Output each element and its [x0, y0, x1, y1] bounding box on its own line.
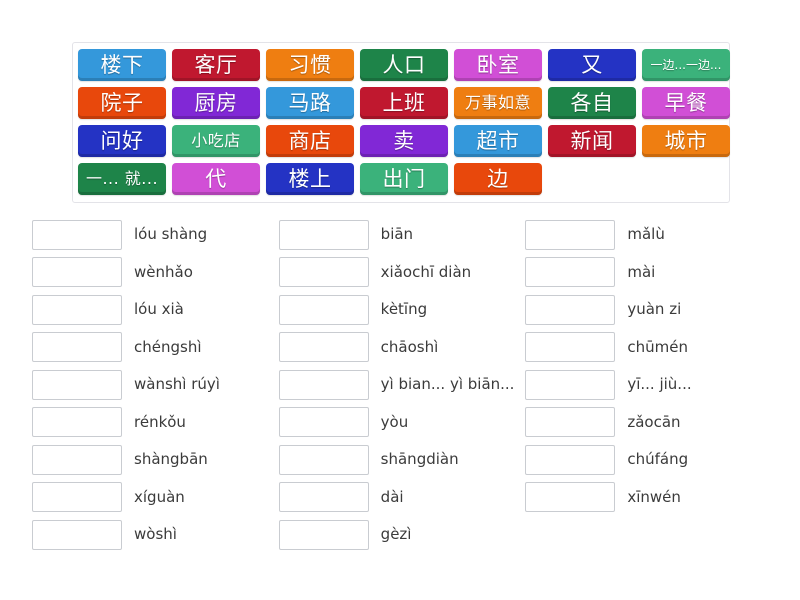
answer-drop-box[interactable] [279, 482, 369, 512]
pinyin-label: lóu shàng [134, 227, 207, 242]
answer-row: yòu [279, 404, 526, 442]
answer-drop-box[interactable] [525, 332, 615, 362]
answer-drop-box[interactable] [279, 220, 369, 250]
pinyin-label: gèzì [381, 527, 412, 542]
answer-row: yuàn zi [525, 291, 772, 329]
answer-drop-box[interactable] [32, 445, 122, 475]
pinyin-label: wànshì rúyì [134, 377, 220, 392]
answer-drop-box[interactable] [525, 295, 615, 325]
answer-row: wènhǎo [32, 254, 279, 292]
answer-row: lóu shàng [32, 216, 279, 254]
word-tile[interactable]: 边 [454, 163, 542, 195]
word-tile[interactable]: 一边...一边... [642, 49, 730, 81]
answer-drop-box[interactable] [525, 257, 615, 287]
word-tile[interactable]: 早餐 [642, 87, 730, 119]
pinyin-label: chūmén [627, 340, 688, 355]
pinyin-label: rénkǒu [134, 415, 186, 430]
answer-drop-box[interactable] [32, 520, 122, 550]
answer-column: biānxiǎochī diànkètīngchāoshìyì bian... … [279, 216, 526, 554]
pinyin-label: wòshì [134, 527, 177, 542]
word-tile[interactable]: 小吃店 [172, 125, 260, 157]
answer-drop-box[interactable] [279, 445, 369, 475]
pinyin-label: yòu [381, 415, 409, 430]
answer-row: gèzì [279, 516, 526, 554]
tile-row: 一... 就...代楼上出门边 [78, 163, 724, 195]
word-tile[interactable]: 又 [548, 49, 636, 81]
word-tile[interactable]: 新闻 [548, 125, 636, 157]
answer-row: chúfáng [525, 441, 772, 479]
answer-grid: lóu shàngwènhǎolóu xiàchéngshìwànshì rúy… [32, 216, 772, 554]
word-tile[interactable]: 商店 [266, 125, 354, 157]
pinyin-label: shàngbān [134, 452, 208, 467]
answer-drop-box[interactable] [279, 295, 369, 325]
pinyin-label: yuàn zi [627, 302, 681, 317]
word-tile-panel: 楼下客厅习惯人口卧室又一边...一边...院子厨房马路上班万事如意各自早餐问好小… [72, 42, 730, 203]
word-tile[interactable]: 楼下 [78, 49, 166, 81]
answer-row: yī... jiù... [525, 366, 772, 404]
answer-column: mǎlùmàiyuàn zichūményī... jiù...zǎocānch… [525, 216, 772, 554]
answer-drop-box[interactable] [32, 332, 122, 362]
answer-row: shāngdiàn [279, 441, 526, 479]
answer-drop-box[interactable] [32, 295, 122, 325]
word-tile[interactable]: 卧室 [454, 49, 542, 81]
pinyin-label: xīnwén [627, 490, 681, 505]
answer-row: dài [279, 479, 526, 517]
word-tile[interactable]: 代 [172, 163, 260, 195]
word-tile[interactable]: 出门 [360, 163, 448, 195]
pinyin-label: yì bian... yì biān... [381, 377, 515, 392]
pinyin-label: biān [381, 227, 413, 242]
pinyin-label: yī... jiù... [627, 377, 691, 392]
pinyin-label: mài [627, 265, 655, 280]
answer-row: kètīng [279, 291, 526, 329]
answer-row: lóu xià [32, 291, 279, 329]
answer-drop-box[interactable] [32, 407, 122, 437]
word-tile[interactable]: 万事如意 [454, 87, 542, 119]
pinyin-label: chāoshì [381, 340, 439, 355]
answer-drop-box[interactable] [525, 407, 615, 437]
pinyin-label: kètīng [381, 302, 427, 317]
answer-row: wòshì [32, 516, 279, 554]
answer-row: chūmén [525, 329, 772, 367]
answer-drop-box[interactable] [525, 220, 615, 250]
word-tile[interactable]: 客厅 [172, 49, 260, 81]
answer-drop-box[interactable] [279, 520, 369, 550]
answer-drop-box[interactable] [279, 407, 369, 437]
pinyin-label: chéngshì [134, 340, 202, 355]
word-tile[interactable]: 人口 [360, 49, 448, 81]
word-tile[interactable]: 习惯 [266, 49, 354, 81]
word-tile[interactable]: 厨房 [172, 87, 260, 119]
answer-row: shàngbān [32, 441, 279, 479]
answer-row: chāoshì [279, 329, 526, 367]
pinyin-label: lóu xià [134, 302, 184, 317]
word-tile[interactable]: 院子 [78, 87, 166, 119]
word-tile[interactable]: 城市 [642, 125, 730, 157]
word-tile[interactable]: 一... 就... [78, 163, 166, 195]
answer-row: biān [279, 216, 526, 254]
answer-row: mài [525, 254, 772, 292]
word-tile[interactable]: 超市 [454, 125, 542, 157]
answer-drop-box[interactable] [32, 257, 122, 287]
answer-row: zǎocān [525, 404, 772, 442]
tile-row: 问好小吃店商店卖超市新闻城市 [78, 125, 724, 157]
answer-row: mǎlù [525, 216, 772, 254]
answer-drop-box[interactable] [279, 332, 369, 362]
word-tile[interactable]: 上班 [360, 87, 448, 119]
word-tile[interactable]: 各自 [548, 87, 636, 119]
answer-drop-box[interactable] [525, 370, 615, 400]
answer-drop-box[interactable] [525, 482, 615, 512]
pinyin-label: zǎocān [627, 415, 680, 430]
answer-column: lóu shàngwènhǎolóu xiàchéngshìwànshì rúy… [32, 216, 279, 554]
answer-row: xiǎochī diàn [279, 254, 526, 292]
answer-drop-box[interactable] [279, 370, 369, 400]
answer-drop-box[interactable] [279, 257, 369, 287]
pinyin-label: xiǎochī diàn [381, 265, 472, 280]
tile-row: 楼下客厅习惯人口卧室又一边...一边... [78, 49, 724, 81]
word-tile[interactable]: 楼上 [266, 163, 354, 195]
answer-row: wànshì rúyì [32, 366, 279, 404]
answer-drop-box[interactable] [32, 220, 122, 250]
answer-row: xīnwén [525, 479, 772, 517]
answer-row: rénkǒu [32, 404, 279, 442]
word-tile[interactable]: 问好 [78, 125, 166, 157]
pinyin-label: dài [381, 490, 404, 505]
pinyin-label: xíguàn [134, 490, 185, 505]
answer-row: xíguàn [32, 479, 279, 517]
pinyin-label: shāngdiàn [381, 452, 459, 467]
pinyin-label: wènhǎo [134, 265, 193, 280]
answer-row: chéngshì [32, 329, 279, 367]
pinyin-label: chúfáng [627, 452, 688, 467]
answer-drop-box[interactable] [32, 482, 122, 512]
pinyin-label: mǎlù [627, 227, 664, 242]
word-tile[interactable]: 卖 [360, 125, 448, 157]
tile-row: 院子厨房马路上班万事如意各自早餐 [78, 87, 724, 119]
answer-drop-box[interactable] [525, 445, 615, 475]
word-tile[interactable]: 马路 [266, 87, 354, 119]
answer-row: yì bian... yì biān... [279, 366, 526, 404]
answer-drop-box[interactable] [32, 370, 122, 400]
